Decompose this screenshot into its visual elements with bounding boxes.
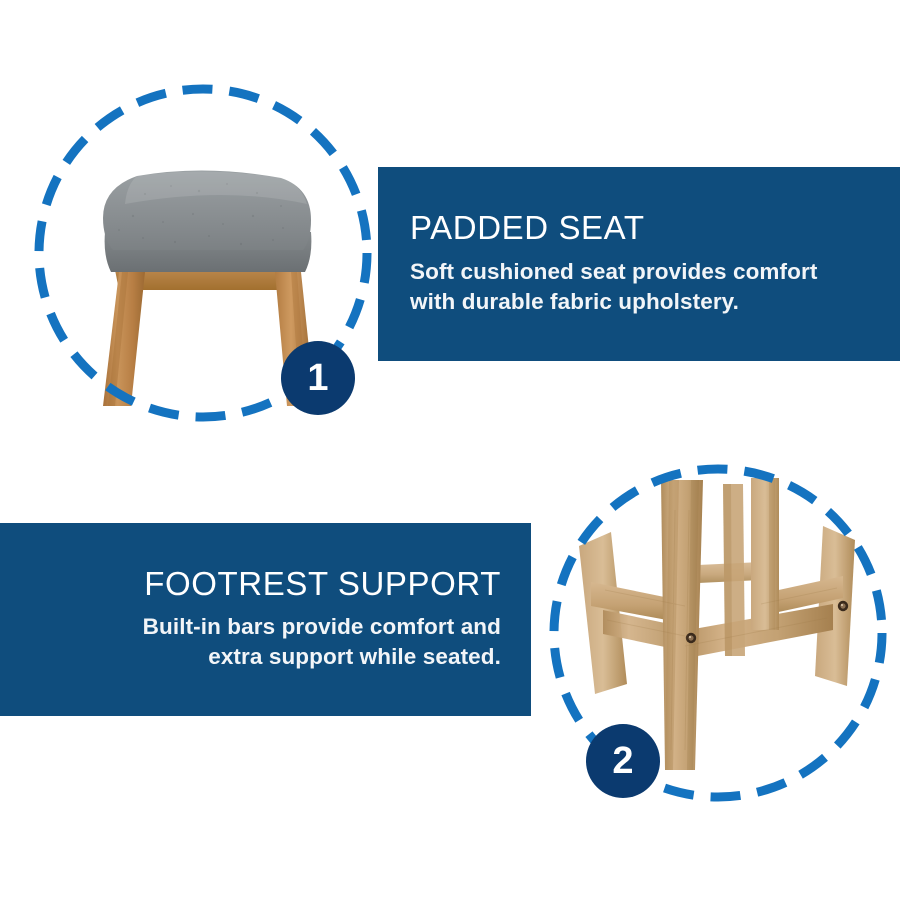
feature-1-body-line-1: Soft cushioned seat provides comfort xyxy=(410,257,817,287)
feature-1-body-line-2: with durable fabric upholstery. xyxy=(410,287,817,317)
feature-1-body: Soft cushioned seat provides comfort wit… xyxy=(410,257,817,317)
feature-2-title: FOOTREST SUPPORT xyxy=(144,567,501,602)
feature-panel-1: PADDED SEAT Soft cushioned seat provides… xyxy=(378,167,900,361)
feature-panel-2: FOOTREST SUPPORT Built-in bars provide c… xyxy=(0,523,531,716)
infographic-canvas: PADDED SEAT Soft cushioned seat provides… xyxy=(0,0,900,900)
feature-2-number-badge: 2 xyxy=(586,724,660,798)
feature-2-body-line-2: extra support while seated. xyxy=(143,642,501,672)
feature-1-title: PADDED SEAT xyxy=(410,211,645,246)
feature-2-body-line-1: Built-in bars provide comfort and xyxy=(143,612,501,642)
feature-2-body: Built-in bars provide comfort and extra … xyxy=(143,612,501,672)
feature-1-number-badge: 1 xyxy=(281,341,355,415)
screw xyxy=(838,601,848,611)
